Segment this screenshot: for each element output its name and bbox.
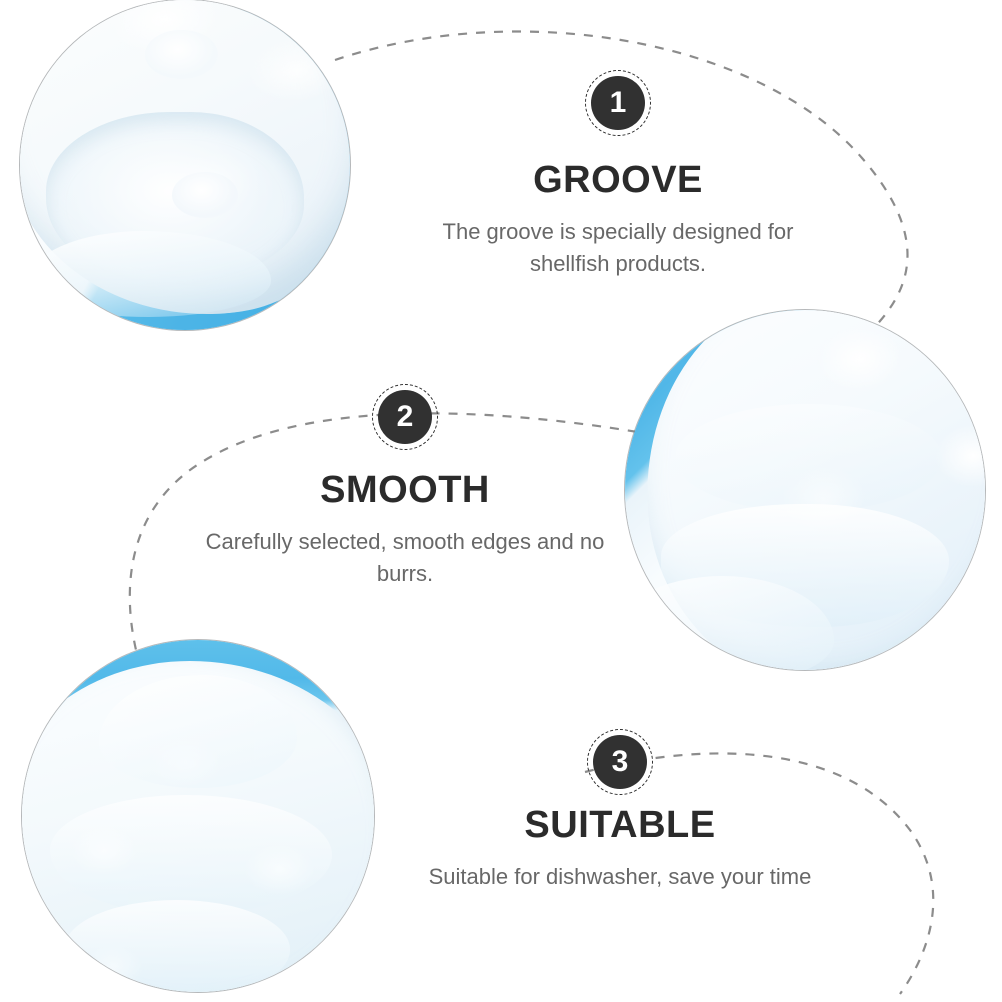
feature-description-1: The groove is specially designed for she… — [413, 216, 823, 281]
feature-photo-3 — [22, 640, 374, 992]
feature-photo-2 — [625, 310, 985, 670]
badge-number: 2 — [397, 402, 414, 432]
feature-text-1: GROOVE The groove is specially designed … — [413, 160, 823, 281]
feature-photo-1 — [20, 0, 350, 330]
badge-number: 1 — [610, 88, 627, 118]
feature-description-3: Suitable for dishwasher, save your time — [415, 861, 825, 894]
step-badge-3: 3 — [587, 729, 653, 795]
badge-disc: 2 — [378, 390, 432, 444]
infographic-canvas: 1 GROOVE The groove is specially designe… — [0, 0, 1002, 1002]
badge-disc: 1 — [591, 76, 645, 130]
step-badge-1: 1 — [585, 70, 651, 136]
feature-description-2: Carefully selected, smooth edges and no … — [200, 526, 610, 591]
feature-text-3: SUITABLE Suitable for dishwasher, save y… — [415, 805, 825, 893]
feature-title-3: SUITABLE — [415, 805, 825, 847]
feature-title-2: SMOOTH — [200, 470, 610, 512]
step-badge-2: 2 — [372, 384, 438, 450]
badge-number: 3 — [612, 747, 629, 777]
feature-text-2: SMOOTH Carefully selected, smooth edges … — [200, 470, 610, 591]
badge-disc: 3 — [593, 735, 647, 789]
feature-title-1: GROOVE — [413, 160, 823, 202]
